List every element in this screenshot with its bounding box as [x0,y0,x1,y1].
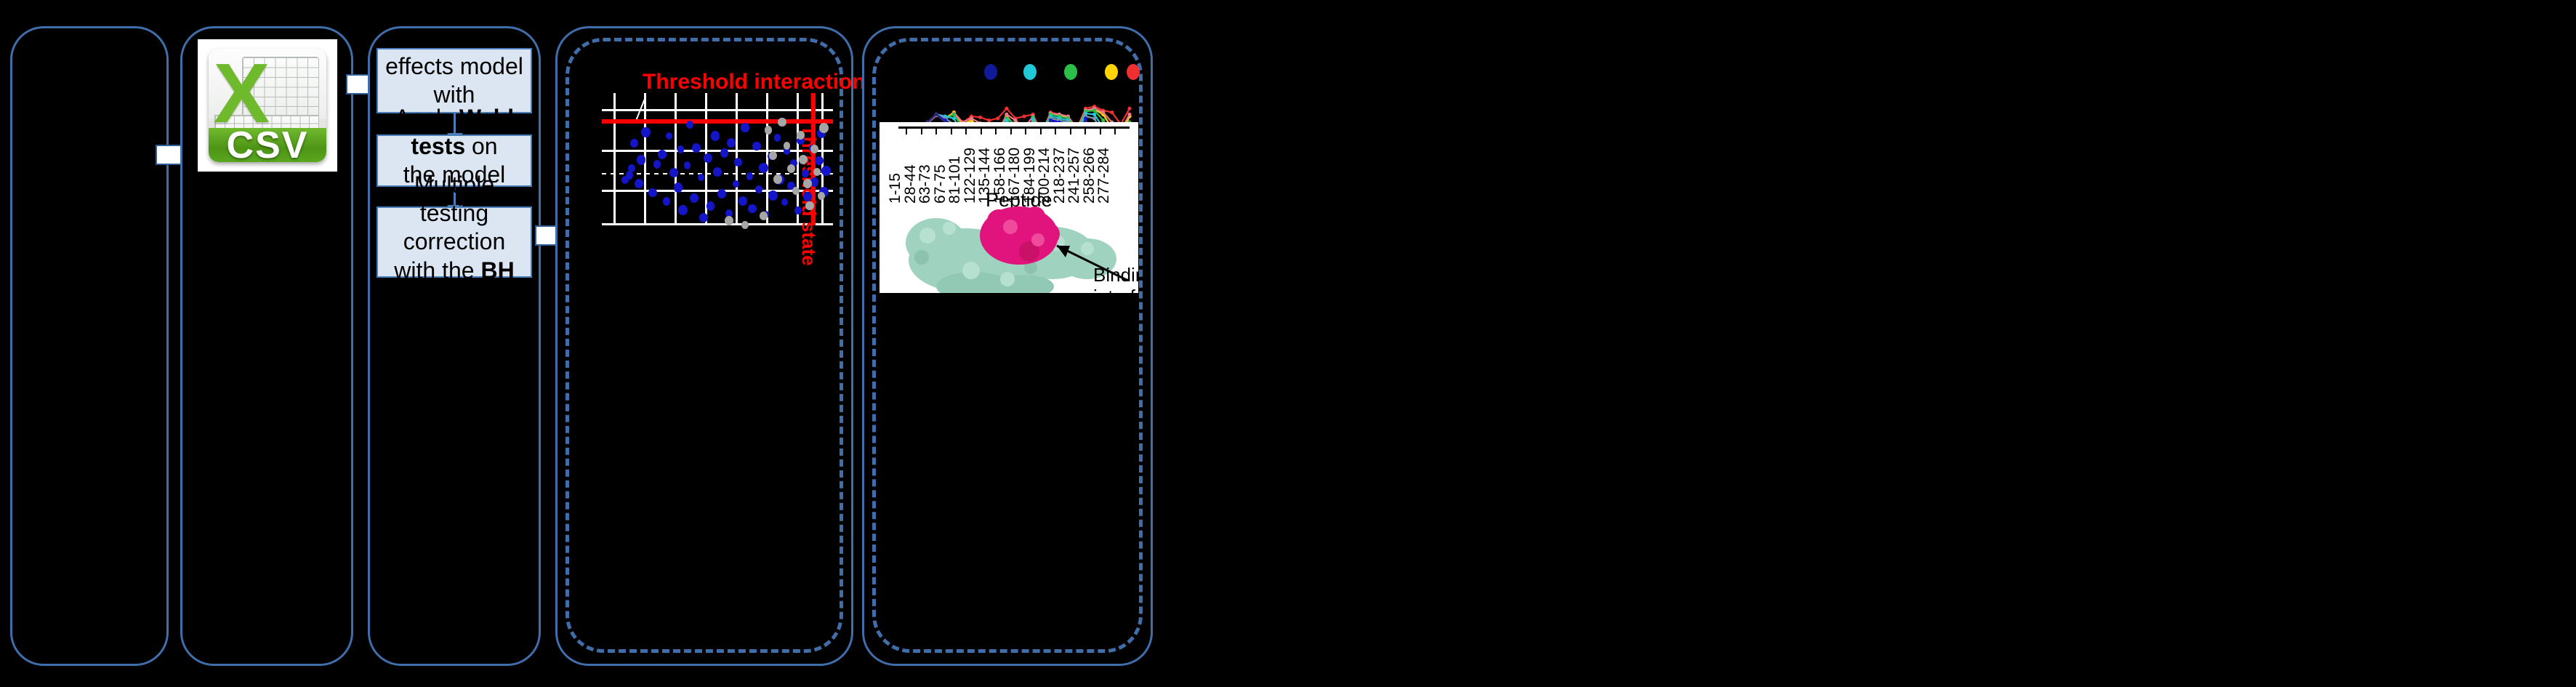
scatter-point [663,197,671,206]
csv-icon-body: X CSV [209,49,326,163]
peptide-data-point [1084,116,1087,120]
x-axis-tick [1010,129,1012,134]
scatter-point [704,153,712,163]
peptide-data-point [970,116,973,120]
peptide-tick-labels: 1-1528-4463-7367-7581-101122-129135-1441… [880,122,1138,188]
step1-line1: Fit a linear mixed- [400,0,508,51]
x-axis-tick [906,129,907,134]
scatter-point [734,158,743,167]
scatter-point [769,151,777,160]
scatter-point [635,179,644,189]
scatter-point [641,127,651,137]
step1-line2: effects model with [385,53,523,108]
x-axis-tick [981,129,982,134]
peptide-data-point [1092,113,1096,116]
scatter-point [755,185,762,193]
scatter-point [626,171,634,180]
peptide-data-point [996,116,999,120]
scatter-point [784,142,791,150]
scatter-point [765,126,772,134]
binding-interface-annotation: Binding interface [1093,265,1138,293]
scatter-point [787,164,795,173]
scatter-point [648,188,657,198]
scatter-point [692,143,701,153]
scatter-point [748,204,757,214]
scatter-point [727,138,736,148]
excel-x-icon: X [214,53,270,133]
x-axis-tick [935,129,937,134]
scatter-title: Threshold interaction [643,70,866,95]
x-axis-tick [1040,129,1042,134]
legend-dot-navy [984,64,997,80]
scatter-point [678,205,688,215]
scatter-point [813,168,821,176]
x-axis-tick [951,129,952,134]
scatter-point [666,132,672,140]
scatter-point [759,163,768,173]
scatter-point [746,172,754,180]
peptide-data-point [952,113,956,116]
binding-label-line2: interface [1093,286,1138,293]
threshold-interaction-line [602,119,833,124]
scatter-point [797,131,805,140]
scatter-point [717,189,726,198]
scatter-plot-area: Threshold state [602,93,833,225]
step-multiple-testing: Multiple testing correction with the BH … [377,206,532,278]
legend-dot-green [1064,64,1077,80]
x-axis-tick [1055,129,1056,134]
peptide-data-point [1005,113,1008,116]
scatter-point [690,193,699,203]
peptide-data-point [935,113,938,116]
scatter-point [821,166,831,176]
step2-suffix: on [465,133,497,159]
scatter-point [711,131,720,140]
scatter-point [658,150,667,159]
scatter-point [677,145,684,153]
x-axis-tick [921,129,922,134]
structure-result-card: 0.01 1-1528-4463-7367-7581-101122-129135… [880,122,1138,293]
scatter-point [778,118,786,126]
scatter-point [805,201,813,210]
step3-bold: BH [480,257,514,284]
scatter-point [684,161,691,169]
peptide-data-point [1127,113,1131,116]
scatter-point [713,167,722,177]
peptide-data-point [1022,114,1026,118]
legend-dot-cyan [1023,64,1037,80]
csv-file-icon: X CSV [198,39,337,172]
scatter-point [741,123,749,132]
scatter-point [815,156,824,166]
peptide-data-point [1110,111,1114,114]
scatter-point [752,142,760,150]
scatter-point [674,182,683,193]
x-axis-tick [1025,129,1026,134]
peptide-data-point [952,116,956,120]
threshold-scatter-plot: Threshold interaction Threshold state [581,65,832,233]
legend-dot-yellow [1105,64,1118,80]
binding-label-line1: Binding [1093,265,1138,286]
peptide-data-point [1005,107,1008,111]
scatter-point [803,179,812,188]
scatter-point [707,201,715,211]
peptide-legend [890,54,1137,83]
csv-label-band: CSV [209,128,326,162]
scatter-point [686,121,693,129]
x-axis-tick [995,129,997,134]
step3-line2: correction [403,228,506,254]
scatter-point [733,180,739,188]
scatter-point [773,174,782,184]
x-axis-tick [965,129,967,134]
csv-label-text: CSV [227,124,309,162]
scatter-point [768,190,778,201]
scatter-point [698,174,704,181]
scatter-point [774,134,781,142]
peptide-data-point [1127,107,1131,111]
peptide-data-point [1101,111,1105,114]
x-axis-tick [1100,129,1101,134]
peptide-data-point [1092,116,1096,120]
scatter-point [720,148,729,158]
input-panel [10,26,169,666]
scatter-point [628,164,635,172]
scatter-point [741,221,749,229]
scatter-point [819,123,829,133]
gridline-v [766,93,768,225]
step3-prefix: with the [394,257,480,284]
legend-dot-red [1127,64,1140,80]
step3-line1: Multiple testing [414,172,494,226]
scatter-point [653,160,661,168]
x-axis-tick [1070,129,1071,134]
scatter-point [738,196,747,206]
step2-prefix: Apply [395,105,459,131]
step3-suffix: procedure [402,286,507,312]
scatter-point [818,192,825,200]
peptide-data-point [1092,108,1096,112]
peptide-data-point [978,116,982,119]
scatter-point [781,198,788,206]
gridline-v [675,93,677,225]
gridline-v [613,93,616,225]
scatter-point [799,155,808,164]
x-axis-tick [1114,129,1116,134]
peptide-tick-label: 277-284 [1095,148,1113,204]
scatter-point [669,168,678,177]
scatter-point [630,139,638,148]
x-axis-tick [1084,129,1086,134]
